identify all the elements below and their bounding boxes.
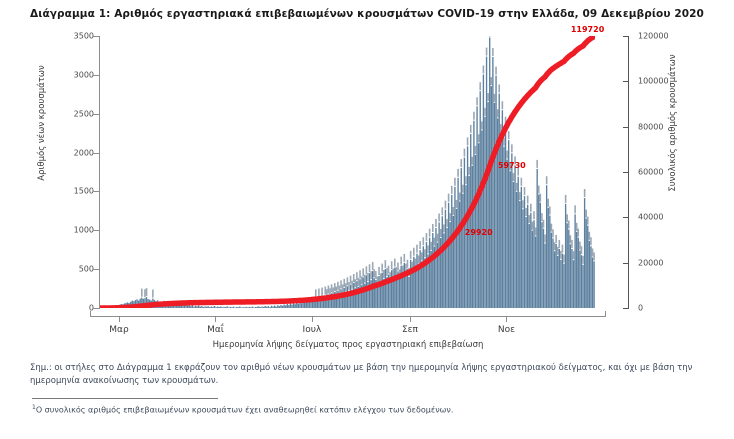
bar: [532, 231, 533, 308]
bar: [225, 307, 226, 308]
bar: [196, 306, 197, 308]
y-axis-left-tick-mark: [93, 75, 99, 76]
bar: [525, 217, 526, 308]
bar: [456, 209, 457, 308]
bar: [246, 307, 247, 308]
bar: [590, 246, 591, 308]
bar: [492, 57, 493, 308]
bar: [293, 303, 294, 308]
bar: [514, 165, 515, 308]
bar: [570, 244, 571, 308]
bar: [399, 278, 400, 308]
bar: [418, 264, 419, 308]
bar: [415, 268, 416, 308]
bar: [546, 185, 547, 308]
bar: [184, 305, 185, 308]
bar: [378, 276, 379, 308]
bar: [551, 233, 552, 308]
bar: [249, 307, 250, 308]
bar: [295, 304, 296, 308]
bar: [195, 306, 196, 308]
bar: [516, 192, 517, 308]
bar: [506, 160, 507, 308]
bar: [258, 306, 259, 308]
bar: [220, 306, 221, 308]
bar: [217, 307, 218, 308]
bar: [592, 257, 593, 308]
x-axis-tick-label: Νοε: [498, 325, 515, 335]
bar: [429, 238, 430, 308]
bar: [279, 306, 280, 308]
bar: [287, 304, 288, 308]
bar: [563, 264, 564, 308]
bar: [253, 307, 254, 308]
bar: [513, 182, 514, 308]
bar: [261, 307, 262, 308]
bar: [377, 285, 378, 308]
bar: [461, 168, 462, 308]
bar: [454, 187, 455, 308]
bar: [468, 176, 469, 308]
bar: [438, 223, 439, 308]
bar: [419, 250, 420, 308]
bar: [396, 276, 397, 308]
y-axis-left-tick-mark: [93, 191, 99, 192]
y-axis-right-tick-label: 120000: [638, 32, 669, 41]
bar: [274, 306, 275, 308]
chart-canvas: [100, 36, 595, 308]
bar: [277, 305, 278, 308]
page-title: Διάγραμμα 1: Αριθμός εργαστηριακά επιβεβ…: [0, 8, 734, 20]
bar: [374, 278, 375, 308]
bar: [491, 86, 492, 308]
bar: [500, 133, 501, 308]
bar: [230, 307, 231, 308]
bar: [198, 306, 199, 308]
bar: [586, 219, 587, 308]
bar: [266, 307, 267, 308]
bar: [250, 307, 251, 308]
bar: [209, 307, 210, 308]
bar: [408, 277, 409, 308]
bar: [535, 237, 536, 309]
bar: [192, 306, 193, 308]
bar: [538, 195, 539, 308]
y-axis-right-tick-label: 40000: [638, 213, 663, 222]
bar: [476, 106, 477, 308]
y-axis-right-title: Συνολικός αριθμός κρουσμάτων: [668, 23, 678, 223]
bar: [533, 220, 534, 308]
bar: [543, 229, 544, 308]
bar: [554, 251, 555, 308]
bar: [223, 307, 224, 308]
bar: [190, 306, 191, 308]
bar: [271, 306, 272, 308]
bar: [448, 203, 449, 308]
y-axis-left-tick-mark: [93, 153, 99, 154]
y-axis-left-tick-label: 500: [52, 265, 94, 274]
x-axis-line: [90, 316, 606, 317]
y-axis-right-tick-label: 80000: [638, 122, 663, 131]
bar: [549, 216, 550, 308]
bar: [451, 195, 452, 308]
line-annotation-label: 119720: [571, 25, 604, 34]
bar: [257, 307, 258, 308]
bar: [405, 273, 406, 308]
bar: [459, 202, 460, 308]
bar: [307, 302, 308, 308]
bar: [404, 263, 405, 308]
y-axis-left-tick-mark: [93, 308, 99, 309]
y-axis-left-tick-label: 2500: [52, 109, 94, 118]
bar: [567, 223, 568, 308]
bar: [519, 201, 520, 308]
bar: [462, 194, 463, 308]
y-axis-right-tick-label: 60000: [638, 168, 663, 177]
bar: [252, 307, 253, 308]
y-axis-right-tick-mark: [623, 263, 629, 264]
bar: [450, 222, 451, 308]
bar: [584, 198, 585, 308]
bar: [222, 307, 223, 308]
bar: [544, 244, 545, 309]
y-axis-left-tick-label: 1500: [52, 187, 94, 196]
bar: [426, 242, 427, 308]
bar: [541, 222, 542, 308]
bar: [239, 307, 240, 308]
bar: [400, 266, 401, 308]
bar: [529, 224, 530, 308]
bar: [548, 208, 549, 308]
bar: [503, 147, 504, 308]
bar: [576, 232, 577, 308]
bar: [291, 305, 292, 308]
y-axis-right-tick-mark: [623, 217, 629, 218]
bar: [412, 271, 413, 308]
bar: [219, 307, 220, 308]
y-axis-left-tick-label: 0: [52, 304, 94, 313]
bar: [298, 304, 299, 308]
bar: [236, 307, 237, 308]
y-axis-left-tick-label: 3500: [52, 32, 94, 41]
bar: [344, 288, 345, 308]
line-annotation-label: 59730: [498, 161, 526, 170]
y-axis-left-tick-mark: [93, 36, 99, 37]
bar: [206, 307, 207, 308]
bar: [467, 146, 468, 308]
bar: [557, 256, 558, 308]
bar: [301, 303, 302, 308]
bar: [193, 307, 194, 308]
y-axis-left-tick-label: 2000: [52, 148, 94, 157]
bar: [573, 260, 574, 308]
bar: [473, 121, 474, 308]
bar: [435, 228, 436, 308]
bar: [269, 307, 270, 308]
bar: [536, 169, 537, 308]
x-axis-tick-label: Μαρ: [109, 325, 128, 335]
x-axis-tick-mark: [215, 317, 216, 322]
bar: [518, 177, 519, 308]
bar: [268, 306, 269, 308]
footnote-divider: [32, 398, 218, 399]
bar: [524, 196, 525, 308]
bar: [234, 307, 235, 308]
bar: [304, 303, 305, 308]
bar: [416, 254, 417, 308]
bar: [211, 307, 212, 308]
bar: [560, 260, 561, 308]
bar: [530, 213, 531, 308]
bar: [228, 307, 229, 308]
bar: [208, 306, 209, 308]
footnote: 1Ο συνολικός αριθμός επιβεβαιωμένων κρου…: [32, 403, 702, 417]
bar: [244, 307, 245, 308]
bar: [264, 306, 265, 308]
x-axis-tick-mark: [506, 317, 507, 322]
bar: [255, 307, 256, 308]
bar: [465, 185, 466, 308]
x-axis-tick-mark: [312, 317, 313, 322]
footnote-text: Ο συνολικός αριθμός επιβεβαιωμένων κρουσ…: [36, 406, 454, 415]
bar: [310, 302, 311, 308]
bar: [552, 238, 553, 308]
x-axis-tick-mark: [119, 317, 120, 322]
bar: [581, 255, 582, 308]
bar: [260, 307, 261, 308]
bar: [214, 306, 215, 308]
bar: [288, 305, 289, 308]
bar: [201, 306, 202, 308]
y-axis-left-tick-mark: [93, 269, 99, 270]
bar: [445, 210, 446, 308]
bar: [200, 307, 201, 308]
bar: [457, 178, 458, 308]
bar: [587, 226, 588, 308]
bar: [272, 306, 273, 308]
y-axis-right-tick-label: 0: [638, 304, 643, 313]
bar: [227, 306, 228, 308]
bar: [571, 249, 572, 308]
bar: [410, 260, 411, 308]
plot-area: 1197205973029920: [100, 36, 595, 308]
bar: [382, 273, 383, 308]
x-axis-title: Ημερομηνία λήψης δείγματος προς εργαστηρ…: [90, 340, 606, 350]
bar: [578, 238, 579, 308]
y-axis-left-tick-mark: [93, 230, 99, 231]
bar: [579, 250, 580, 308]
x-axis-tick-label: Σεπ: [402, 325, 418, 335]
y-axis-left-tick-mark: [93, 114, 99, 115]
bar: [394, 268, 395, 308]
bar: [282, 306, 283, 308]
bar: [494, 103, 495, 308]
y-axis-right-tick-mark: [623, 81, 629, 82]
bar: [276, 307, 277, 308]
bar: [391, 270, 392, 308]
y-axis-right-tick-mark: [623, 127, 629, 128]
bar: [483, 74, 484, 308]
bar: [510, 171, 511, 308]
bar: [402, 275, 403, 308]
bar: [574, 214, 575, 308]
bar: [582, 265, 583, 308]
y-axis-left-tick-label: 1000: [52, 226, 94, 235]
bar: [505, 126, 506, 308]
bar: [423, 246, 424, 308]
y-axis-right-tick-label: 20000: [638, 258, 663, 267]
x-axis-tick-mark: [410, 317, 411, 322]
bar: [555, 244, 556, 308]
bar: [393, 278, 394, 308]
y-axis-left-title: Αριθμός νέων κρουσμάτων: [37, 23, 47, 223]
bar: [285, 305, 286, 308]
y-axis-left-tick-label: 3000: [52, 70, 94, 79]
y-axis-right-tick-mark: [623, 36, 629, 37]
bar: [204, 306, 205, 308]
y-axis-right-tick-mark: [623, 308, 629, 309]
bar: [187, 306, 188, 308]
bar: [470, 134, 471, 308]
bar: [478, 143, 479, 308]
bar: [340, 289, 341, 308]
bar: [540, 203, 541, 308]
bar: [559, 249, 560, 308]
bar: [242, 307, 243, 308]
bar: [565, 204, 566, 308]
y-axis-right-tick-mark: [623, 172, 629, 173]
bar: [263, 307, 264, 308]
chart-note: Σημ.: οι στήλες στο Διάγραμμα 1 εκφράζου…: [30, 362, 706, 388]
y-axis-right-tick-label: 100000: [638, 77, 669, 86]
bar: [280, 305, 281, 308]
bar: [568, 230, 569, 308]
figure: Αριθμός νέων κρουσμάτων Συνολικός αριθμό…: [28, 28, 706, 346]
bar: [593, 261, 594, 308]
bar: [215, 307, 216, 308]
bar: [283, 304, 284, 308]
bar: [522, 209, 523, 308]
bar: [453, 216, 454, 308]
bar-series: [100, 38, 595, 308]
bar: [238, 307, 239, 308]
bar: [347, 286, 348, 308]
bar: [511, 153, 512, 308]
x-axis-tick-label: Μαΐ: [207, 325, 224, 335]
bar: [481, 130, 482, 308]
bar: [527, 205, 528, 308]
bar: [203, 307, 204, 308]
chart-page: Διάγραμμα 1: Αριθμός εργαστηριακά επιβεβ…: [0, 0, 734, 439]
bar: [521, 187, 522, 308]
bar: [290, 303, 291, 308]
bar: [233, 307, 234, 308]
bar: [413, 257, 414, 308]
bar: [442, 216, 443, 308]
bar: [247, 307, 248, 308]
line-annotation-label: 29920: [465, 228, 493, 237]
bar: [189, 305, 190, 308]
bar: [389, 281, 390, 308]
bar: [495, 76, 496, 308]
bar: [562, 254, 563, 308]
bar: [480, 91, 481, 308]
bar: [385, 269, 386, 308]
bar: [231, 307, 232, 308]
bar: [487, 102, 488, 308]
x-axis-cap-right: [605, 311, 606, 317]
bar: [589, 241, 590, 308]
bar: [484, 117, 485, 308]
bar: [432, 233, 433, 308]
x-axis-tick-label: Ιουλ: [303, 325, 322, 335]
bar: [499, 94, 500, 308]
bar: [212, 307, 213, 308]
